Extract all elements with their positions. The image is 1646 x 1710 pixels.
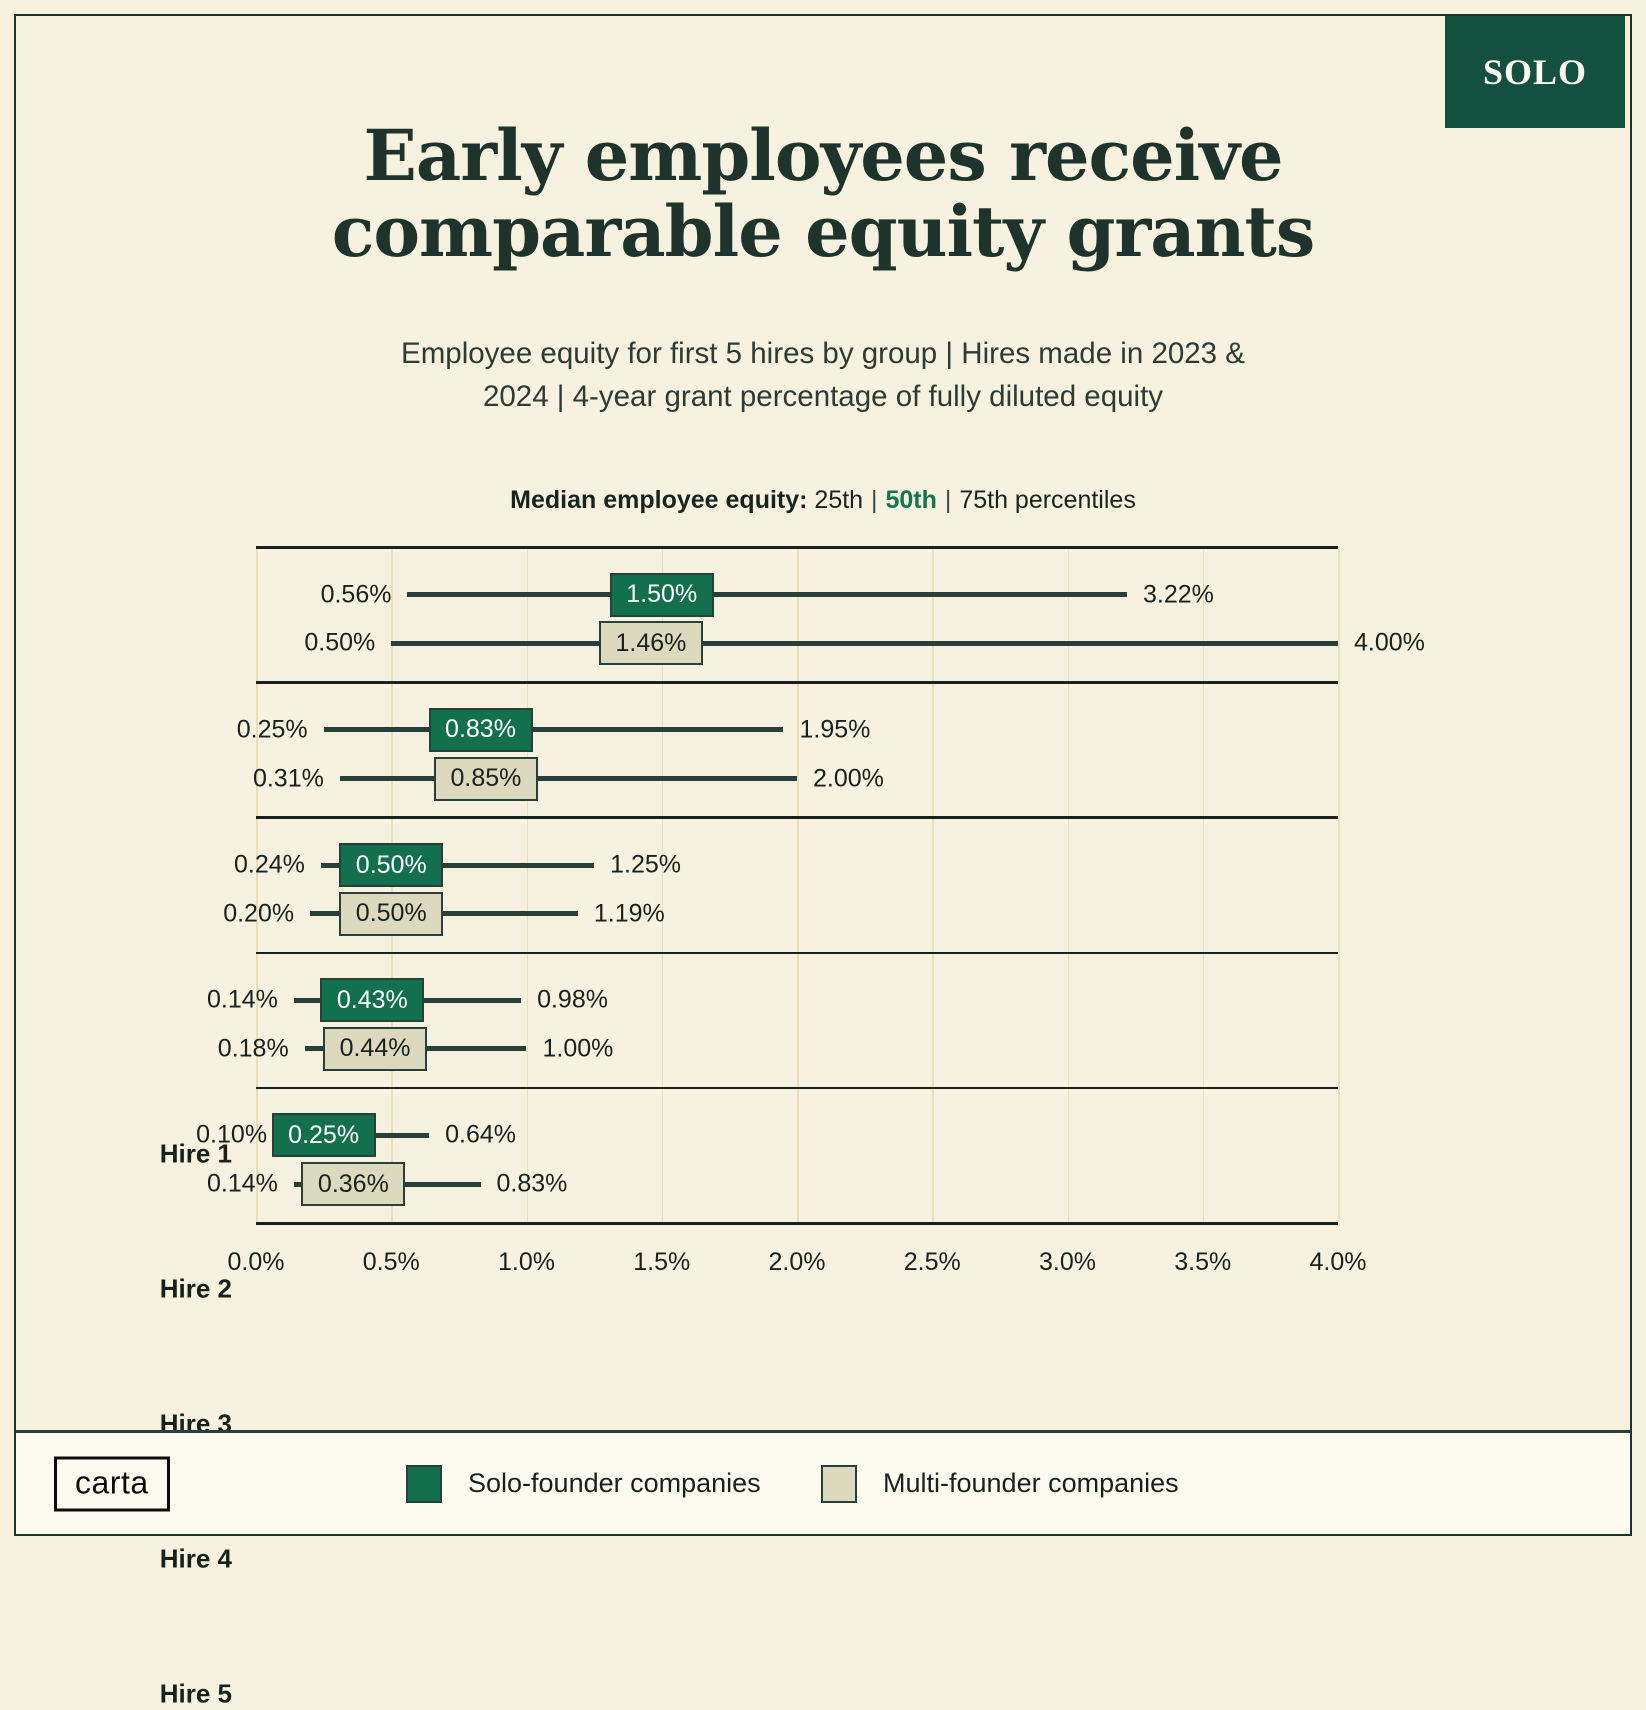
x-tick-label: 0.0% bbox=[228, 1248, 285, 1277]
median-value-box: 0.85% bbox=[434, 757, 538, 801]
x-axis-line bbox=[256, 1222, 1338, 1225]
subtitle-line-2: 2024 | 4-year grant percentage of fully … bbox=[0, 376, 1646, 419]
row-separator bbox=[256, 1087, 1338, 1090]
x-tick-label: 2.5% bbox=[904, 1248, 961, 1277]
x-tick-label: 2.0% bbox=[769, 1248, 826, 1277]
p75-value-label: 0.98% bbox=[521, 986, 608, 1015]
category-label-1: Hire 1 bbox=[0, 1138, 232, 1169]
title-line-2: comparable equity grants bbox=[0, 194, 1646, 270]
p25-value-label: 0.14% bbox=[207, 986, 294, 1015]
chart-area: 0.56%3.22%1.50%0.50%4.00%1.46%0.25%1.95%… bbox=[0, 540, 1646, 1300]
solo-badge: SOLO bbox=[1445, 16, 1625, 128]
whisker-line bbox=[391, 641, 1338, 646]
p75-value-label: 3.22% bbox=[1127, 580, 1214, 609]
gridline bbox=[527, 546, 529, 1222]
percentile-75th: 75th percentiles bbox=[959, 486, 1136, 514]
page-subtitle: Employee equity for first 5 hires by gro… bbox=[0, 333, 1646, 419]
solo-badge-label: SOLO bbox=[1483, 51, 1587, 93]
percentile-key: Median employee equity: 25th | 50th | 75… bbox=[0, 486, 1646, 515]
p75-value-label: 4.00% bbox=[1338, 629, 1425, 658]
p75-value-label: 1.19% bbox=[578, 899, 665, 928]
gridline bbox=[1068, 546, 1070, 1222]
p25-value-label: 0.18% bbox=[218, 1034, 305, 1063]
x-tick-label: 4.0% bbox=[1310, 1248, 1367, 1277]
p25-value-label: 0.56% bbox=[321, 580, 408, 609]
median-value-box: 1.50% bbox=[610, 573, 714, 617]
subtitle-line-1: Employee equity for first 5 hires by gro… bbox=[0, 333, 1646, 376]
gridline bbox=[932, 546, 934, 1222]
p25-value-label: 0.20% bbox=[223, 899, 310, 928]
median-value-box: 0.25% bbox=[272, 1113, 376, 1157]
percentile-25th: 25th bbox=[814, 486, 863, 514]
legend-item-solo: Solo-founder companies bbox=[406, 1465, 761, 1503]
p25-value-label: 0.24% bbox=[234, 851, 321, 880]
p25-value-label: 0.31% bbox=[253, 764, 340, 793]
x-tick-label: 0.5% bbox=[363, 1248, 420, 1277]
legend-label-solo: Solo-founder companies bbox=[468, 1468, 761, 1499]
infographic-page: SOLO Early employees receive comparable … bbox=[0, 0, 1646, 1550]
x-tick-label: 3.5% bbox=[1174, 1248, 1231, 1277]
p75-value-label: 1.00% bbox=[527, 1034, 614, 1063]
title-line-1: Early employees receive bbox=[364, 114, 1283, 197]
legend-item-multi: Multi-founder companies bbox=[821, 1465, 1179, 1503]
plot-region: 0.56%3.22%1.50%0.50%4.00%1.46%0.25%1.95%… bbox=[256, 546, 1338, 1222]
p75-value-label: 0.83% bbox=[481, 1170, 568, 1199]
median-value-box: 0.50% bbox=[339, 843, 443, 887]
legend-swatch-solo-icon bbox=[406, 1465, 442, 1503]
category-label-2: Hire 2 bbox=[0, 1273, 232, 1304]
carta-logo: carta bbox=[54, 1456, 170, 1511]
category-label-5: Hire 5 bbox=[0, 1679, 232, 1710]
p75-value-label: 1.95% bbox=[783, 715, 870, 744]
row-separator bbox=[256, 546, 1338, 549]
percentile-separator-1: | bbox=[870, 486, 879, 514]
x-tick-label: 1.5% bbox=[633, 1248, 690, 1277]
median-value-box: 0.50% bbox=[339, 892, 443, 936]
p75-value-label: 0.64% bbox=[429, 1121, 516, 1150]
p75-value-label: 1.25% bbox=[594, 851, 681, 880]
legend-label-multi: Multi-founder companies bbox=[883, 1468, 1179, 1499]
legend-swatch-multi-icon bbox=[821, 1465, 857, 1503]
p25-value-label: 0.25% bbox=[237, 715, 324, 744]
p75-value-label: 2.00% bbox=[797, 764, 884, 793]
category-label-4: Hire 4 bbox=[0, 1544, 232, 1575]
percentile-50th: 50th bbox=[886, 486, 937, 514]
median-value-box: 0.43% bbox=[320, 978, 424, 1022]
row-separator bbox=[256, 816, 1338, 819]
whisker-line bbox=[340, 776, 797, 781]
median-value-box: 0.83% bbox=[429, 708, 533, 752]
x-tick-label: 1.0% bbox=[498, 1248, 555, 1277]
whisker-line bbox=[324, 727, 784, 732]
p25-value-label: 0.50% bbox=[304, 629, 391, 658]
row-separator bbox=[256, 952, 1338, 955]
percentile-key-prefix: Median employee equity: bbox=[510, 486, 807, 514]
footer: carta Solo-founder companies Multi-found… bbox=[16, 1433, 1630, 1534]
gridline bbox=[797, 546, 799, 1222]
median-value-box: 1.46% bbox=[599, 621, 703, 665]
page-title: Early employees receive comparable equit… bbox=[0, 118, 1646, 269]
whisker-line bbox=[407, 592, 1127, 597]
median-value-box: 0.36% bbox=[301, 1162, 405, 1206]
x-tick-label: 3.0% bbox=[1039, 1248, 1096, 1277]
row-separator bbox=[256, 681, 1338, 684]
median-value-box: 0.44% bbox=[323, 1027, 427, 1071]
p25-value-label: 0.14% bbox=[207, 1170, 294, 1199]
gridline bbox=[1203, 546, 1205, 1222]
